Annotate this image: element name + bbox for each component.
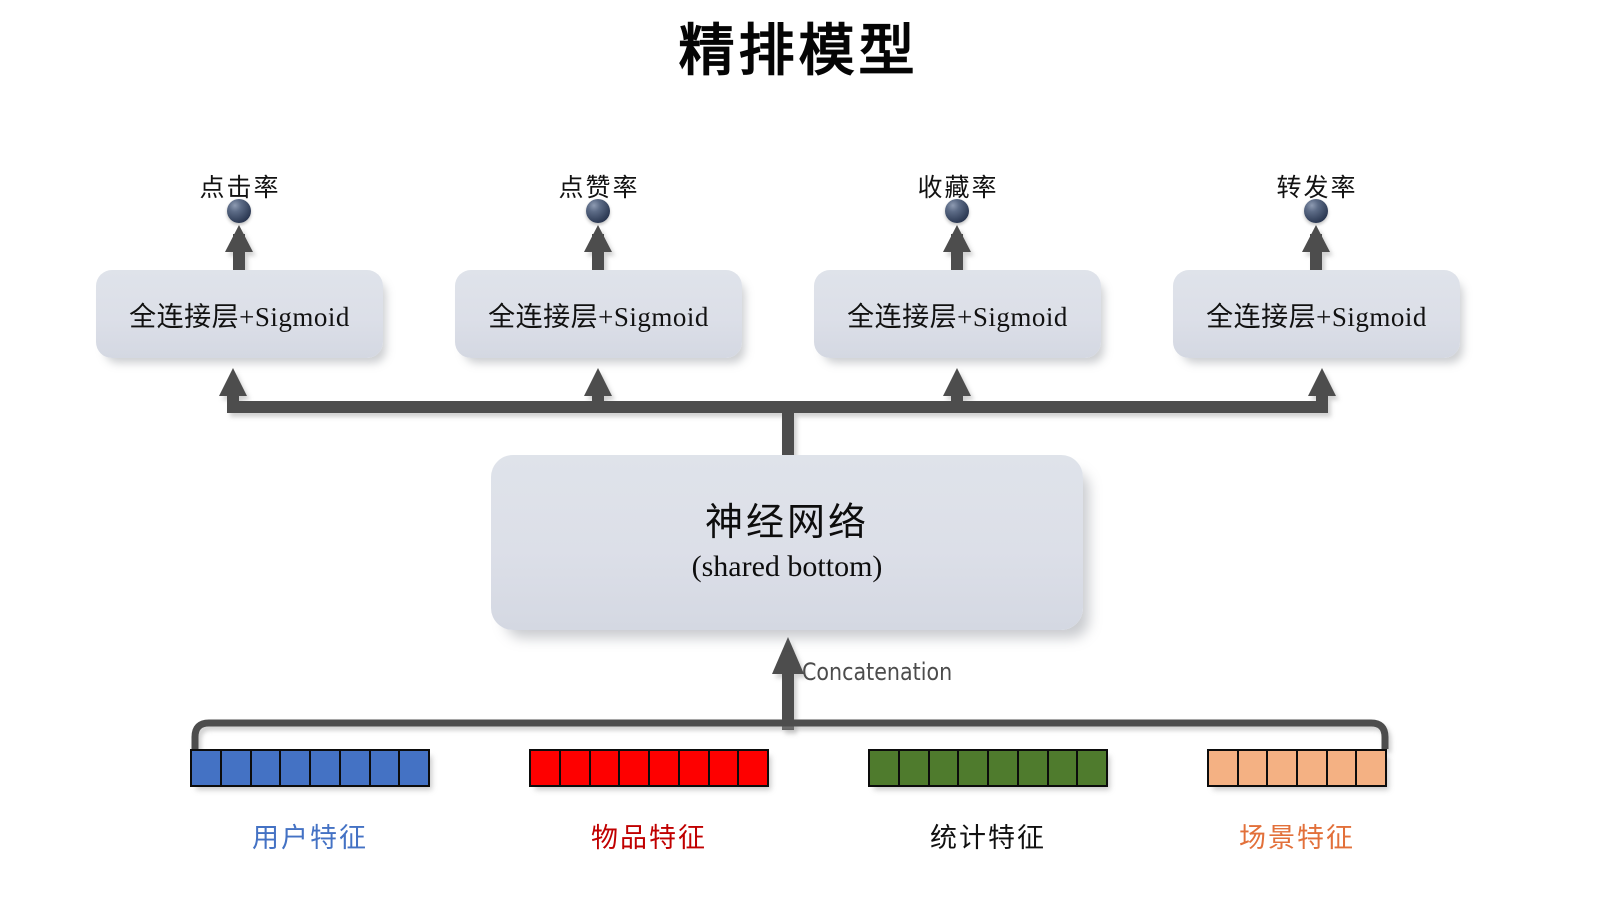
feature-vector-scene[interactable] (1207, 749, 1387, 787)
feature-vector-stats[interactable] (868, 749, 1108, 787)
feature-cell (339, 749, 369, 787)
tower-box-share[interactable]: 全连接层+Sigmoid (1173, 270, 1460, 358)
tower-box-like[interactable]: 全连接层+Sigmoid (455, 270, 742, 358)
feature-group-stats: 统计特征 (868, 749, 1108, 855)
feature-cell (559, 749, 589, 787)
feature-cell (190, 749, 220, 787)
tower-box-favorite[interactable]: 全连接层+Sigmoid (814, 270, 1101, 358)
feature-cell (1266, 749, 1296, 787)
feature-group-item: 物品特征 (529, 749, 769, 855)
shared-bottom-title: 神经网络 (705, 500, 869, 546)
feature-cell (868, 749, 898, 787)
tower-label-ctr: 全连接层+Sigmoid (129, 295, 350, 334)
feature-cell (1047, 749, 1077, 787)
concatenation-label: Concatenation (802, 658, 952, 686)
arrow-concat-to-sharedbottom (772, 637, 804, 730)
sphere-node-icon-ctr (227, 199, 251, 223)
tower-box-ctr[interactable]: 全连接层+Sigmoid (96, 270, 383, 358)
feature-cell (279, 749, 309, 787)
feature-cell (309, 749, 339, 787)
feature-group-user: 用户特征 (190, 749, 430, 855)
tower-label-share: 全连接层+Sigmoid (1206, 295, 1427, 334)
feature-cell (1237, 749, 1267, 787)
feature-cell (648, 749, 678, 787)
shared-bottom-subtitle: (shared bottom) (692, 548, 883, 586)
feature-cell (1326, 749, 1356, 787)
feature-cell (678, 749, 708, 787)
feature-cell (987, 749, 1017, 787)
feature-cell (898, 749, 928, 787)
feature-label-scene: 场景特征 (1207, 816, 1387, 855)
tower-label-favorite: 全连接层+Sigmoid (847, 295, 1068, 334)
diagram-canvas: 精排模型 (0, 0, 1597, 897)
feature-cell (957, 749, 987, 787)
arrow-tower-to-output-1 (225, 225, 253, 274)
feature-cell (529, 749, 559, 787)
feature-cell (737, 749, 769, 787)
feature-cell (1355, 749, 1387, 787)
feature-cell (589, 749, 619, 787)
arrow-tower-to-output-4 (1302, 225, 1330, 274)
feature-cell (618, 749, 648, 787)
shared-bottom-box[interactable]: 神经网络 (shared bottom) (491, 455, 1083, 630)
feature-cell (369, 749, 399, 787)
feature-cell (1207, 749, 1237, 787)
sphere-node-icon-like (586, 199, 610, 223)
feature-label-stats: 统计特征 (868, 816, 1108, 855)
arrow-tower-to-output-3 (943, 225, 971, 274)
sphere-node-icon-share (1304, 199, 1328, 223)
feature-vector-user[interactable] (190, 749, 430, 787)
feature-cell (1076, 749, 1108, 787)
feature-cell (1296, 749, 1326, 787)
feature-label-item: 物品特征 (529, 816, 769, 855)
feature-cell (250, 749, 280, 787)
feature-cell (1017, 749, 1047, 787)
feature-cell (398, 749, 430, 787)
feature-cell (220, 749, 250, 787)
feature-group-scene: 场景特征 (1207, 749, 1387, 855)
stem-sharedbottom-to-bus (782, 407, 794, 462)
feature-vector-item[interactable] (529, 749, 769, 787)
bus-bar (233, 401, 1322, 413)
arrow-tower-to-output-2 (584, 225, 612, 274)
feature-cell (928, 749, 958, 787)
feature-cell (708, 749, 738, 787)
tower-label-like: 全连接层+Sigmoid (488, 295, 709, 334)
feature-label-user: 用户特征 (190, 816, 430, 855)
sphere-node-icon-favorite (945, 199, 969, 223)
